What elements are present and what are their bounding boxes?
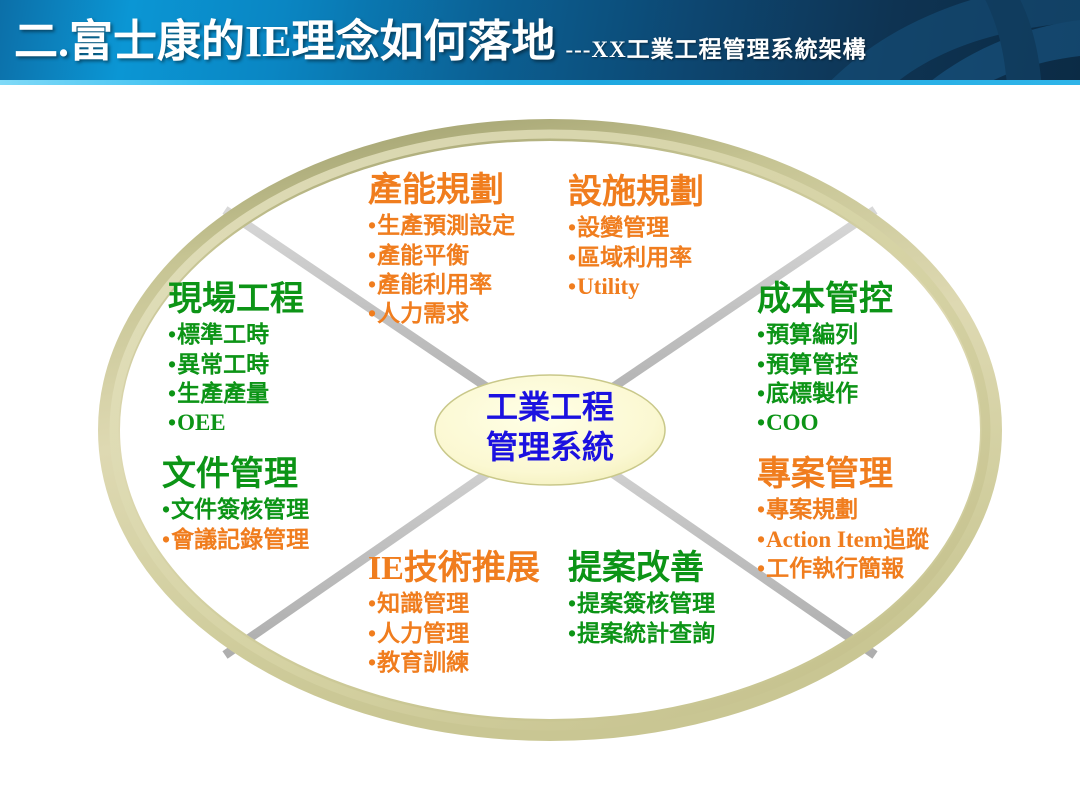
sector-item: 預算管控	[757, 350, 893, 379]
sector-item: 專案規劃	[757, 495, 929, 524]
sector-proposal-improvement[interactable]: 提案改善 提案簽核管理 提案統計查詢	[568, 549, 715, 648]
sector-project-management[interactable]: 專案管理 專案規劃 Action Item追蹤 工作執行簡報	[757, 455, 929, 583]
sector-field-engineering[interactable]: 現場工程 標準工時 異常工時 生產產量 OEE	[168, 280, 304, 438]
sector-heading: 成本管控	[757, 280, 893, 320]
sector-heading: 文件管理	[162, 455, 309, 495]
sector-item: Action Item追蹤	[757, 525, 929, 554]
sector-item: 區域利用率	[568, 243, 704, 272]
sector-heading: 專案管理	[757, 455, 929, 495]
center-label: 工業工程 管理系統	[440, 388, 660, 467]
sector-ie-technology[interactable]: IE技術推展 知識管理 人力管理 教育訓練	[368, 549, 540, 677]
sector-item: COO	[757, 408, 893, 437]
sector-heading: 產能規劃	[368, 171, 515, 211]
sector-item: 底標製作	[757, 379, 893, 408]
sector-item: 產能平衡	[368, 241, 515, 270]
sector-heading: IE技術推展	[368, 549, 540, 589]
sector-heading: 現場工程	[168, 280, 304, 320]
sector-document-management[interactable]: 文件管理 文件簽核管理 會議記錄管理	[162, 455, 309, 554]
sector-item: 教育訓練	[368, 648, 540, 677]
sector-facility-planning[interactable]: 設施規劃 設變管理 區域利用率 Utility	[568, 173, 704, 301]
sector-item: 提案統計查詢	[568, 619, 715, 648]
sector-item: Utility	[568, 272, 704, 301]
sector-capacity-planning[interactable]: 產能規劃 生產預測設定 產能平衡 產能利用率 人力需求	[368, 171, 515, 329]
sector-item: OEE	[168, 408, 304, 437]
ie-system-architecture-diagram: 工業工程 管理系統 產能規劃 生產預測設定 產能平衡 產能利用率 人力需求 設施…	[0, 85, 1080, 810]
sector-item: 文件簽核管理	[162, 495, 309, 524]
sector-item: 設變管理	[568, 213, 704, 242]
sector-item: 人力需求	[368, 299, 515, 328]
sector-item: 人力管理	[368, 619, 540, 648]
sector-item: 預算編列	[757, 320, 893, 349]
sector-item: 生產產量	[168, 379, 304, 408]
page-subtitle: ---XX工業工程管理系統架構	[565, 38, 866, 80]
sector-cost-control[interactable]: 成本管控 預算編列 預算管控 底標製作 COO	[757, 280, 893, 438]
sector-item: 生產預測設定	[368, 211, 515, 240]
slide-header: 二.富士康的IE理念如何落地 ---XX工業工程管理系統架構	[0, 0, 1080, 80]
sector-item: 提案簽核管理	[568, 589, 715, 618]
sector-item: 異常工時	[168, 350, 304, 379]
center-label-line2: 管理系統	[440, 428, 660, 468]
sector-item: 標準工時	[168, 320, 304, 349]
sector-heading: 設施規劃	[568, 173, 704, 213]
center-label-line1: 工業工程	[440, 388, 660, 428]
page-title: 二.富士康的IE理念如何落地	[14, 20, 555, 80]
sector-heading: 提案改善	[568, 549, 715, 589]
sector-item: 工作執行簡報	[757, 554, 929, 583]
sector-item: 知識管理	[368, 589, 540, 618]
sector-item: 產能利用率	[368, 270, 515, 299]
sector-item: 會議記錄管理	[162, 525, 309, 554]
